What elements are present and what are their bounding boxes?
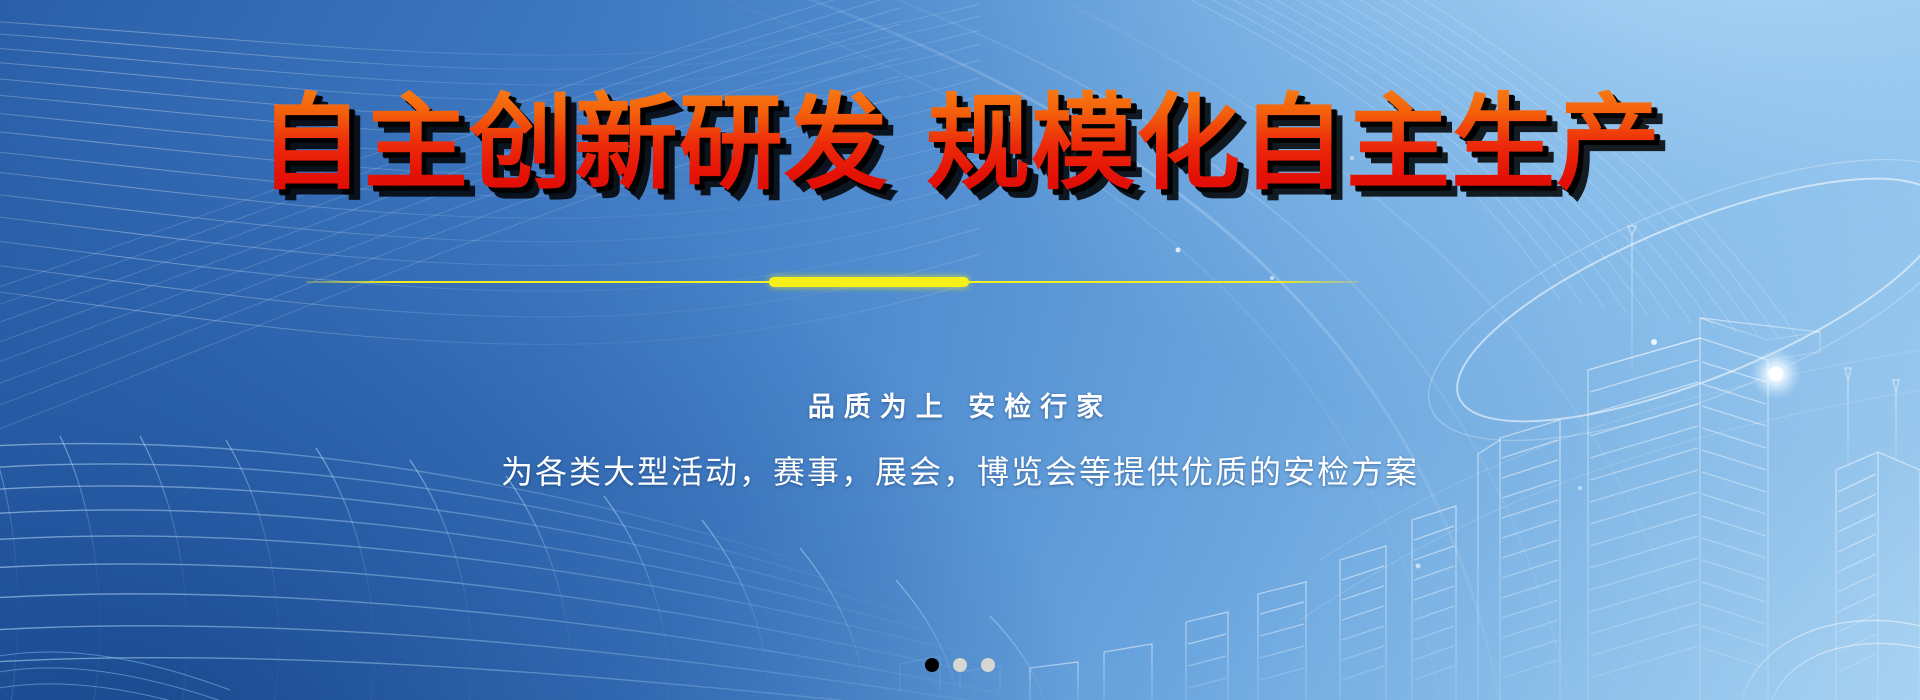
- carousel-dot-3[interactable]: [981, 658, 995, 672]
- headline-text: 自主创新研发 规模化自主生产: [259, 88, 1661, 198]
- subtitle-primary: 品质为上 安检行家: [0, 385, 1920, 424]
- carousel-dot-2[interactable]: [953, 658, 967, 672]
- carousel-dot-1[interactable]: [925, 658, 939, 672]
- subtitle-secondary: 为各类大型活动，赛事，展会，博览会等提供优质的安检方案: [0, 447, 1920, 493]
- banner-headline: 自主创新研发 规模化自主生产: [0, 88, 1920, 198]
- divider-highlight-segment: [769, 277, 969, 287]
- yellow-divider: [306, 277, 1358, 287]
- carousel-dots[interactable]: [0, 658, 1920, 672]
- hero-banner: 自主创新研发 规模化自主生产 品质为上 安检行家 为各类大型活动，赛事，展会，博…: [0, 0, 1920, 700]
